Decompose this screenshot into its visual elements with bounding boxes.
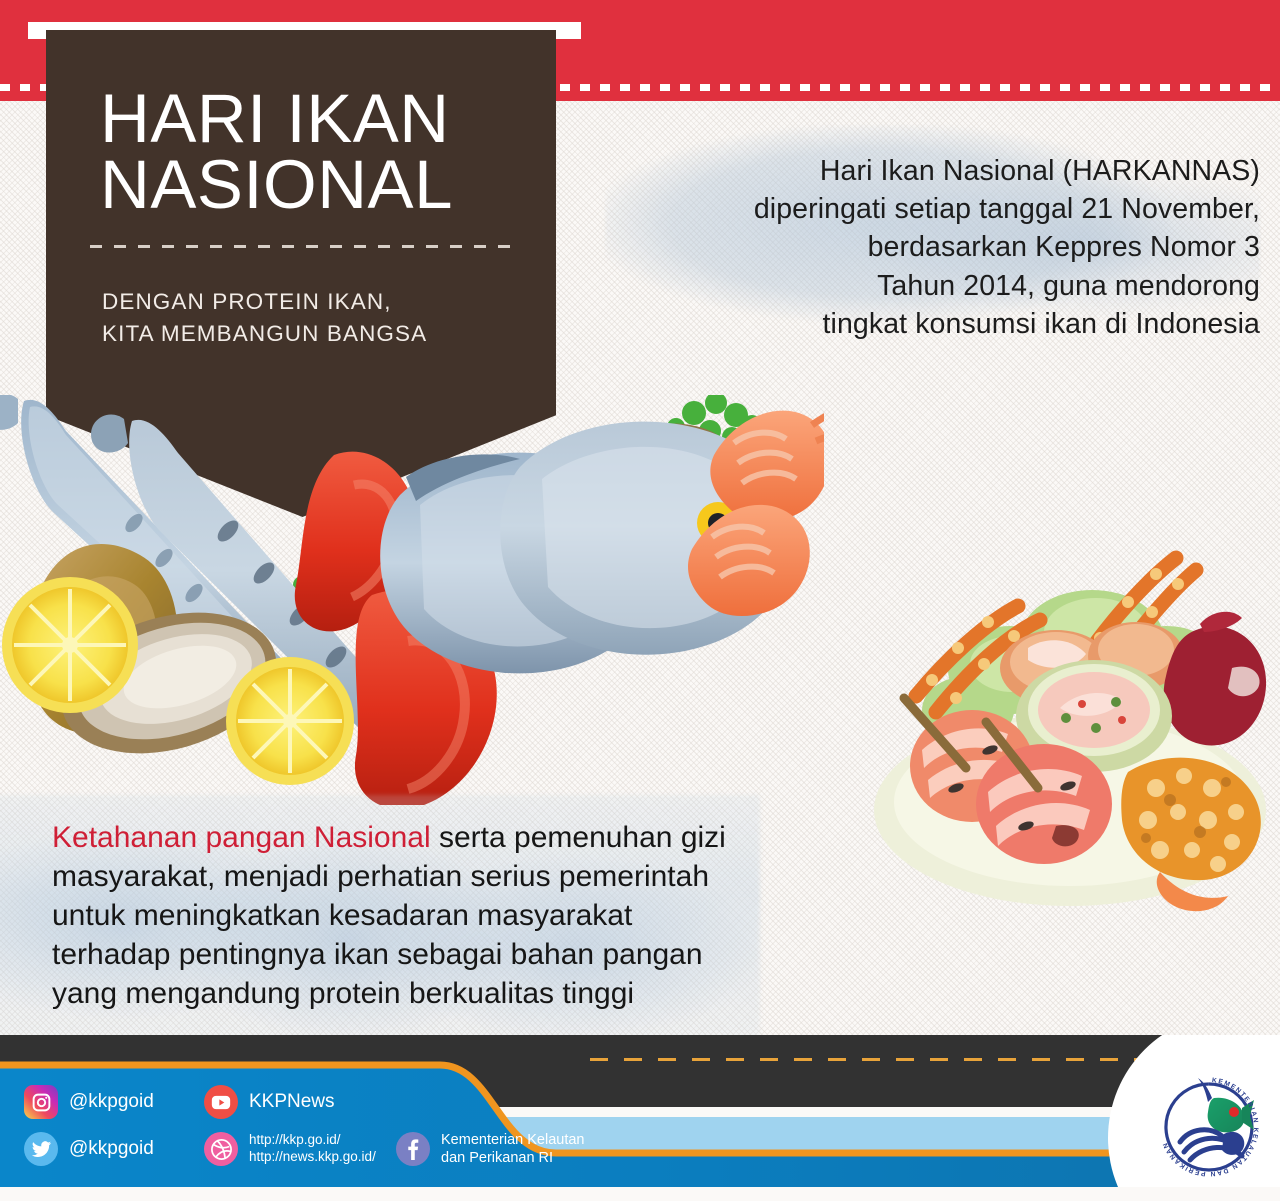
social-website[interactable]: http://kkp.go.id/ http://news.kkp.go.id/ — [204, 1132, 396, 1166]
dribbble-icon[interactable] — [204, 1132, 238, 1166]
twitter-handle: @kkpgoid — [69, 1138, 154, 1160]
body-paragraph-line-5: yang mengandung protein berkualitas ting… — [52, 974, 892, 1013]
poster-root: HARI IKAN NASIONAL DENGAN PROTEIN IKAN, … — [0, 0, 1280, 1201]
tagline-line-2: KITA MEMBANGUN BANGSA — [102, 318, 528, 350]
body-paragraph-line-2: masyarakat, menjadi perhatian serius pem… — [52, 857, 892, 896]
tagline-line-1: DENGAN PROTEIN IKAN, — [102, 286, 528, 318]
page-title-line-1: HARI IKAN — [100, 86, 528, 152]
social-facebook[interactable]: Kementerian Kelautan dan Perikanan RI — [396, 1131, 585, 1167]
intro-text-line-2: diperingati setiap tanggal 21 November, — [600, 190, 1260, 228]
body-paragraph-line-3: untuk meningkatkan kesadaran masyarakat — [52, 896, 892, 935]
tagline: DENGAN PROTEIN IKAN, KITA MEMBANGUN BANG… — [74, 248, 528, 350]
lemon-slice-2 — [226, 657, 354, 785]
social-instagram[interactable]: @kkpgoid — [24, 1085, 204, 1119]
intro-text-line-4: Tahun 2014, guna mendorong — [600, 267, 1260, 305]
social-youtube[interactable]: KKPNews — [204, 1085, 335, 1119]
footer-bottom-strip — [0, 1187, 1280, 1201]
facebook-icon[interactable] — [396, 1132, 430, 1166]
intro-text-line-3: berdasarkan Keppres Nomor 3 — [600, 228, 1260, 266]
social-row-2: @kkpgoid http://kkp.go.id/ http://news.k… — [24, 1131, 644, 1167]
body-paragraph: Ketahanan pangan Nasional serta pemenuha… — [52, 818, 892, 1013]
website-url-2: http://news.kkp.go.id/ — [249, 1149, 376, 1166]
facebook-page-line-2: dan Perikanan RI — [441, 1149, 585, 1167]
seafood-plate-illustration — [860, 520, 1280, 920]
facebook-page: Kementerian Kelautan dan Perikanan RI — [441, 1131, 585, 1167]
title-pennant-content: HARI IKAN NASIONAL DENGAN PROTEIN IKAN, … — [46, 30, 556, 350]
paragraph-highlight: Ketahanan pangan Nasional — [52, 821, 431, 854]
social-twitter[interactable]: @kkpgoid — [24, 1132, 204, 1166]
twitter-icon[interactable] — [24, 1132, 58, 1166]
intro-text-line-1: Hari Ikan Nasional (HARKANNAS) — [600, 152, 1260, 190]
website-urls: http://kkp.go.id/ http://news.kkp.go.id/ — [249, 1132, 376, 1165]
youtube-handle: KKPNews — [249, 1091, 335, 1113]
youtube-icon[interactable] — [204, 1085, 238, 1119]
body-paragraph-line-4: terhadap pentingnya ikan sebagai bahan p… — [52, 935, 892, 974]
page-title: HARI IKAN NASIONAL — [74, 86, 528, 217]
social-row-1: @kkpgoid KKPNews — [24, 1085, 644, 1119]
instagram-handle: @kkpgoid — [69, 1091, 154, 1113]
intro-text: Hari Ikan Nasional (HARKANNAS) diperinga… — [600, 152, 1260, 343]
lemon-slice-1 — [2, 577, 138, 713]
instagram-icon[interactable] — [24, 1085, 58, 1119]
intro-text-line-5: tingkat konsumsi ikan di Indonesia — [600, 305, 1260, 343]
website-url-1: http://kkp.go.id/ — [249, 1132, 376, 1149]
body-paragraph-line-1: Ketahanan pangan Nasional serta pemenuha… — [52, 818, 892, 857]
facebook-page-line-1: Kementerian Kelautan — [441, 1131, 585, 1149]
body-paragraph-line-1-rest: serta pemenuhan gizi — [431, 821, 726, 854]
salmon-sushi-2 — [976, 744, 1112, 864]
kkp-logo: KEMENTERIAN KELAUTAN DAN PERIKANAN — [1150, 1068, 1268, 1186]
social-links: @kkpgoid KKPNews @kkpgoid — [24, 1085, 644, 1179]
seafood-illustration — [0, 395, 824, 805]
page-title-line-2: NASIONAL — [100, 152, 528, 218]
